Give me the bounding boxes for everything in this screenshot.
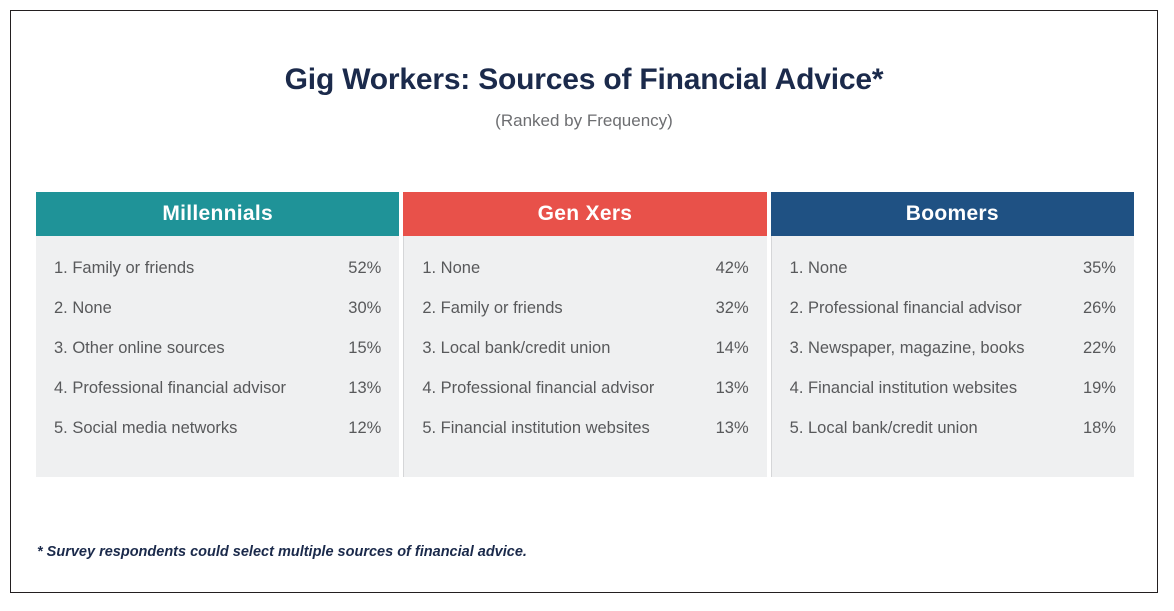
table-row: 2. Family or friends 32%	[422, 299, 748, 339]
row-label: 4. Professional financial advisor	[422, 379, 654, 398]
sources-table: Millennials 1. Family or friends 52% 2. …	[36, 192, 1134, 477]
row-label: 4. Financial institution websites	[790, 379, 1017, 398]
table-row: 4. Financial institution websites 19%	[790, 379, 1116, 419]
row-label: 3. Local bank/credit union	[422, 339, 610, 358]
table-row: 5. Social media networks 12%	[54, 419, 381, 459]
row-value: 26%	[1073, 299, 1116, 318]
table-row: 1. Family or friends 52%	[54, 259, 381, 299]
row-label: 1. Family or friends	[54, 259, 194, 278]
row-value: 13%	[706, 379, 749, 398]
row-label: 3. Newspaper, magazine, books	[790, 339, 1025, 358]
row-value: 13%	[706, 419, 749, 438]
column-body-genxers: 1. None 42% 2. Family or friends 32% 3. …	[403, 236, 766, 477]
table-row: 3. Other online sources 15%	[54, 339, 381, 379]
column-header-millennials: Millennials	[36, 192, 399, 236]
row-value: 52%	[338, 259, 381, 278]
table-row: 1. None 35%	[790, 259, 1116, 299]
column-header-genxers: Gen Xers	[403, 192, 766, 236]
table-row: 5. Local bank/credit union 18%	[790, 419, 1116, 459]
page-title: Gig Workers: Sources of Financial Advice…	[11, 63, 1157, 97]
row-value: 15%	[338, 339, 381, 358]
row-value: 18%	[1073, 419, 1116, 438]
table-row: 2. None 30%	[54, 299, 381, 339]
table-row: 4. Professional financial advisor 13%	[422, 379, 748, 419]
row-label: 5. Social media networks	[54, 419, 237, 438]
row-value: 22%	[1073, 339, 1116, 358]
row-label: 1. None	[422, 259, 480, 278]
row-value: 32%	[706, 299, 749, 318]
row-value: 35%	[1073, 259, 1116, 278]
column-genxers: Gen Xers 1. None 42% 2. Family or friend…	[403, 192, 766, 477]
row-label: 3. Other online sources	[54, 339, 225, 358]
page-subtitle: (Ranked by Frequency)	[11, 111, 1157, 131]
row-label: 4. Professional financial advisor	[54, 379, 286, 398]
row-label: 5. Local bank/credit union	[790, 419, 978, 438]
table-row: 3. Local bank/credit union 14%	[422, 339, 748, 379]
row-value: 42%	[706, 259, 749, 278]
column-header-boomers: Boomers	[771, 192, 1134, 236]
row-value: 13%	[338, 379, 381, 398]
row-label: 2. None	[54, 299, 112, 318]
row-value: 30%	[338, 299, 381, 318]
table-row: 3. Newspaper, magazine, books 22%	[790, 339, 1116, 379]
column-millennials: Millennials 1. Family or friends 52% 2. …	[36, 192, 399, 477]
row-label: 1. None	[790, 259, 848, 278]
row-label: 2. Professional financial advisor	[790, 299, 1022, 318]
row-value: 14%	[706, 339, 749, 358]
table-row: 2. Professional financial advisor 26%	[790, 299, 1116, 339]
table-row: 4. Professional financial advisor 13%	[54, 379, 381, 419]
table-row: 5. Financial institution websites 13%	[422, 419, 748, 459]
table-row: 1. None 42%	[422, 259, 748, 299]
column-body-boomers: 1. None 35% 2. Professional financial ad…	[771, 236, 1134, 477]
column-body-millennials: 1. Family or friends 52% 2. None 30% 3. …	[36, 236, 399, 477]
footnote: * Survey respondents could select multip…	[37, 544, 527, 560]
row-label: 2. Family or friends	[422, 299, 562, 318]
infographic-panel: Gig Workers: Sources of Financial Advice…	[10, 10, 1158, 593]
row-label: 5. Financial institution websites	[422, 419, 649, 438]
row-value: 12%	[338, 419, 381, 438]
row-value: 19%	[1073, 379, 1116, 398]
column-boomers: Boomers 1. None 35% 2. Professional fina…	[771, 192, 1134, 477]
